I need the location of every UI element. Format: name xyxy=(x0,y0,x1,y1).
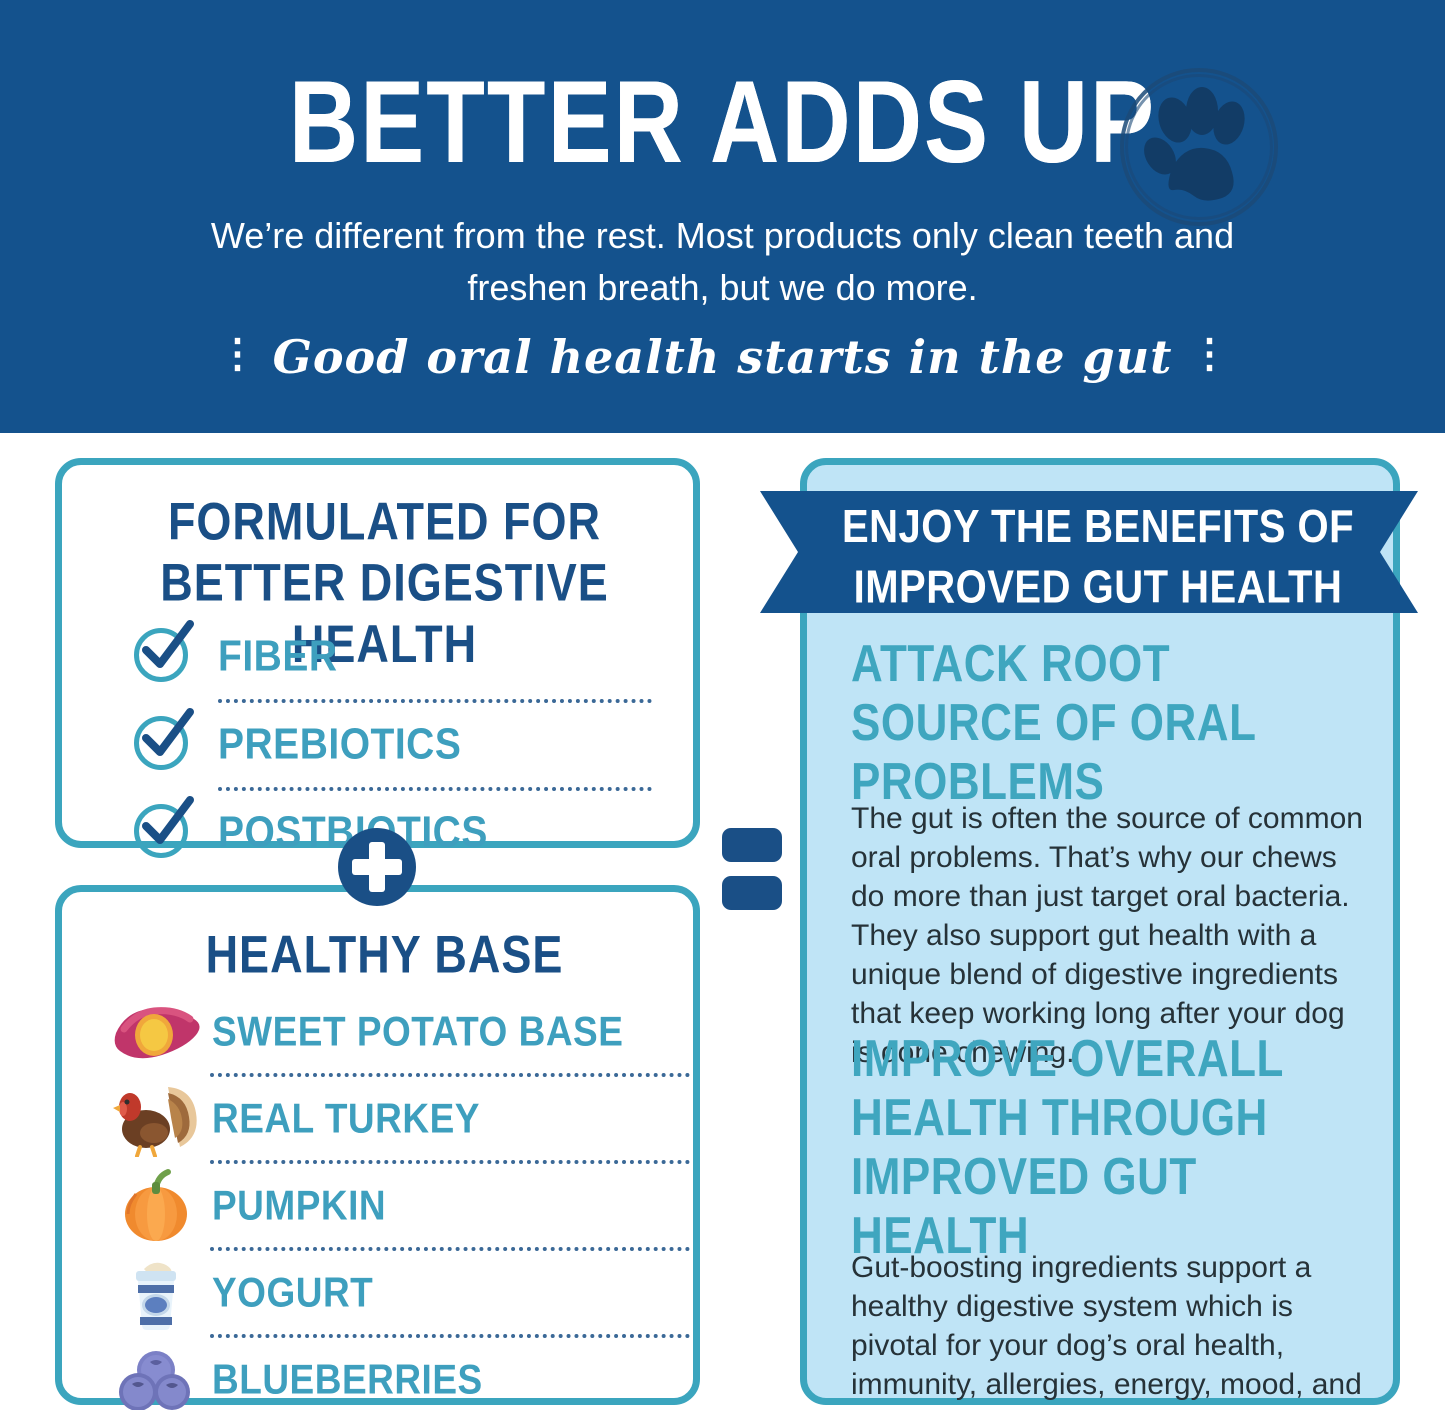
list-item: BLUEBERRIES xyxy=(110,1338,690,1410)
check-mark-glyph xyxy=(138,796,196,854)
list-divider xyxy=(218,699,652,703)
list-item-label: REAL TURKEY xyxy=(212,1095,480,1142)
ingredient-list: SWEET POTATO BASE xyxy=(110,990,690,1410)
check-circle-icon xyxy=(132,802,194,864)
blueberries-icon xyxy=(110,1342,202,1410)
sweet-potato-icon xyxy=(110,994,202,1070)
list-item: FIBER xyxy=(132,615,652,699)
list-divider xyxy=(210,1247,690,1251)
ribbon-banner: ENJOY THE BENEFITS OF IMPROVED GUT HEALT… xyxy=(760,491,1418,613)
script-text: Good oral health starts in the gut xyxy=(273,330,1173,384)
list-item: YOGURT xyxy=(110,1251,690,1334)
header-script-line: ⋮ Good oral health starts in the gut ⋮ xyxy=(180,325,1265,386)
ribbon-title: ENJOY THE BENEFITS OF IMPROVED GUT HEALT… xyxy=(838,497,1358,618)
pumpkin-glyph xyxy=(110,1168,202,1244)
equals-bar-top xyxy=(722,828,782,862)
turkey-icon xyxy=(110,1081,202,1157)
benefit-block: IMPROVE OVERALL HEALTH THROUGH IMPROVED … xyxy=(851,1030,1373,1410)
card-formulated-for-digestive-health: FORMULATED FOR BETTER DIGESTIVE HEALTH F… xyxy=(55,458,700,848)
check-circle-icon xyxy=(132,626,194,688)
header-banner: BETTER ADDS UP We’re different from the … xyxy=(0,0,1445,433)
list-item-label: PREBIOTICS xyxy=(218,720,461,769)
yogurt-cup-icon xyxy=(110,1255,202,1331)
equals-icon xyxy=(722,828,782,920)
benefit-heading: IMPROVE OVERALL HEALTH THROUGH IMPROVED … xyxy=(851,1030,1373,1266)
blueberries-glyph xyxy=(110,1342,202,1410)
list-item-label: FIBER xyxy=(218,632,338,681)
check-mark-glyph xyxy=(138,708,196,766)
check-circle-icon xyxy=(132,714,194,776)
script-deco-right: ⋮ xyxy=(1189,325,1227,383)
plus-icon xyxy=(338,828,416,906)
pumpkin-icon xyxy=(110,1168,202,1244)
check-mark-glyph xyxy=(138,620,196,678)
list-item: SWEET POTATO BASE xyxy=(110,990,690,1073)
list-item: PREBIOTICS xyxy=(132,703,652,787)
card-title-healthy-base: HEALTHY BASE xyxy=(82,924,687,985)
list-item-label: YOGURT xyxy=(212,1269,373,1316)
sweet-potato-glyph xyxy=(110,999,202,1065)
equals-bar-bottom xyxy=(722,876,782,910)
list-item-label: PUMPKIN xyxy=(212,1182,386,1229)
benefit-block: ATTACK ROOT SOURCE OF ORAL PROBLEMS The … xyxy=(851,635,1373,1072)
list-divider xyxy=(210,1334,690,1338)
yogurt-cup-glyph xyxy=(110,1255,202,1331)
list-item-label: SWEET POTATO BASE xyxy=(212,1008,623,1055)
card-healthy-base: HEALTHY BASE SWEET POTATO BASE xyxy=(55,885,700,1405)
paw-print-icon xyxy=(1120,68,1276,224)
list-divider xyxy=(210,1073,690,1077)
header-subtitle: We’re different from the rest. Most prod… xyxy=(180,210,1265,314)
benefit-body: Gut-boosting ingredients support a healt… xyxy=(851,1248,1373,1410)
turkey-glyph xyxy=(110,1081,202,1157)
list-item: REAL TURKEY xyxy=(110,1077,690,1160)
benefit-heading: ATTACK ROOT SOURCE OF ORAL PROBLEMS xyxy=(851,635,1373,812)
list-divider xyxy=(218,787,652,791)
list-item-label: BLUEBERRIES xyxy=(212,1356,483,1403)
list-divider xyxy=(210,1160,690,1164)
infographic-page: BETTER ADDS UP We’re different from the … xyxy=(0,0,1445,1410)
list-item: PUMPKIN xyxy=(110,1164,690,1247)
page-title: BETTER ADDS UP xyxy=(289,62,1156,184)
script-deco-left: ⋮ xyxy=(218,325,256,383)
